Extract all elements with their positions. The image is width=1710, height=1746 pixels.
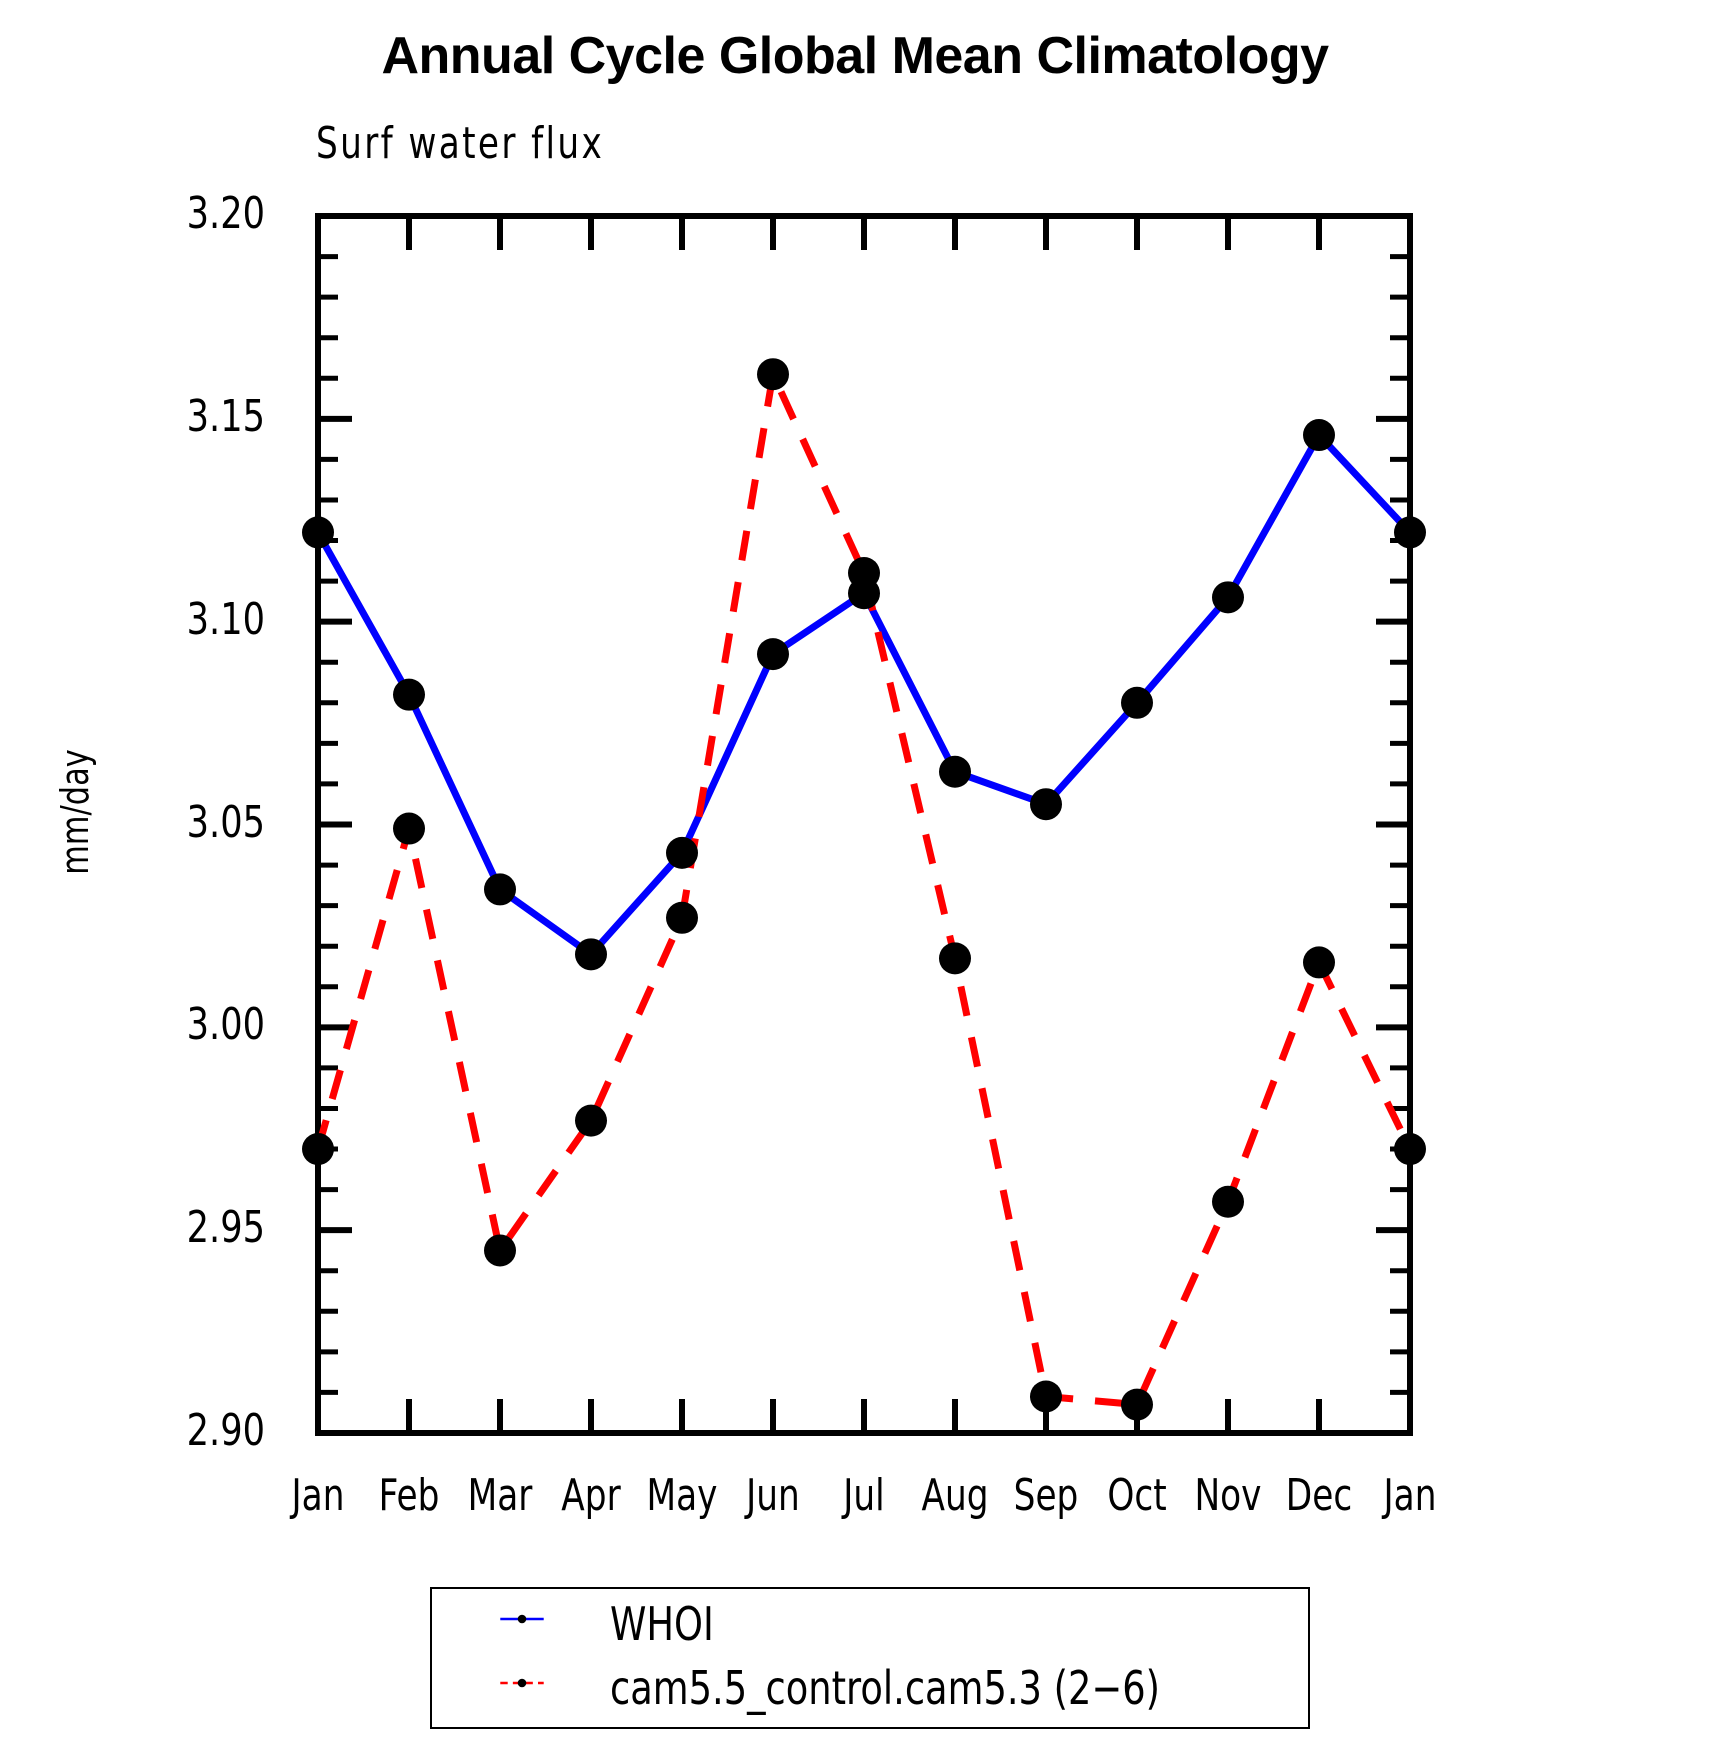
data-point-marker — [302, 1133, 334, 1165]
data-point-marker — [666, 902, 698, 934]
axis-frame — [318, 216, 1410, 1433]
data-point-marker — [666, 837, 698, 869]
chart-page: Annual Cycle Global Mean Climatology Sur… — [0, 0, 1710, 1746]
data-point-marker — [1212, 1186, 1244, 1218]
data-point-marker — [757, 358, 789, 390]
data-point-marker — [757, 638, 789, 670]
data-point-marker — [393, 679, 425, 711]
legend-marker — [518, 1615, 527, 1624]
legend-item-0[interactable]: WHOI — [432, 1597, 1308, 1659]
legend-marker — [518, 1679, 527, 1688]
data-point-marker — [1121, 687, 1153, 719]
data-point-marker — [1121, 1389, 1153, 1421]
data-point-marker — [939, 756, 971, 788]
series-line-0 — [318, 435, 1410, 954]
data-point-marker — [1394, 1133, 1426, 1165]
plot-area — [0, 0, 1710, 1746]
legend-item-1[interactable]: cam5.5_control.cam5.3 (2−6) — [432, 1661, 1308, 1723]
data-point-marker — [1030, 1380, 1062, 1412]
data-point-marker — [848, 557, 880, 589]
data-point-marker — [939, 942, 971, 974]
data-point-marker — [1394, 516, 1426, 548]
data-point-marker — [1303, 419, 1335, 451]
legend: WHOI cam5.5_control.cam5.3 (2−6) — [430, 1587, 1310, 1729]
data-point-marker — [1212, 581, 1244, 613]
data-point-marker — [484, 1234, 516, 1266]
legend-label-0: WHOI — [610, 1597, 714, 1651]
data-point-marker — [575, 1105, 607, 1137]
data-point-marker — [1303, 946, 1335, 978]
legend-line-sample-cam — [446, 1677, 598, 1689]
data-point-marker — [302, 516, 334, 548]
series-line-1 — [318, 374, 1410, 1404]
legend-label-1: cam5.5_control.cam5.3 (2−6) — [610, 1661, 1160, 1715]
data-point-marker — [484, 873, 516, 905]
data-point-marker — [1030, 788, 1062, 820]
data-point-marker — [575, 938, 607, 970]
data-point-marker — [393, 813, 425, 845]
legend-line-sample-whoi — [446, 1613, 598, 1625]
